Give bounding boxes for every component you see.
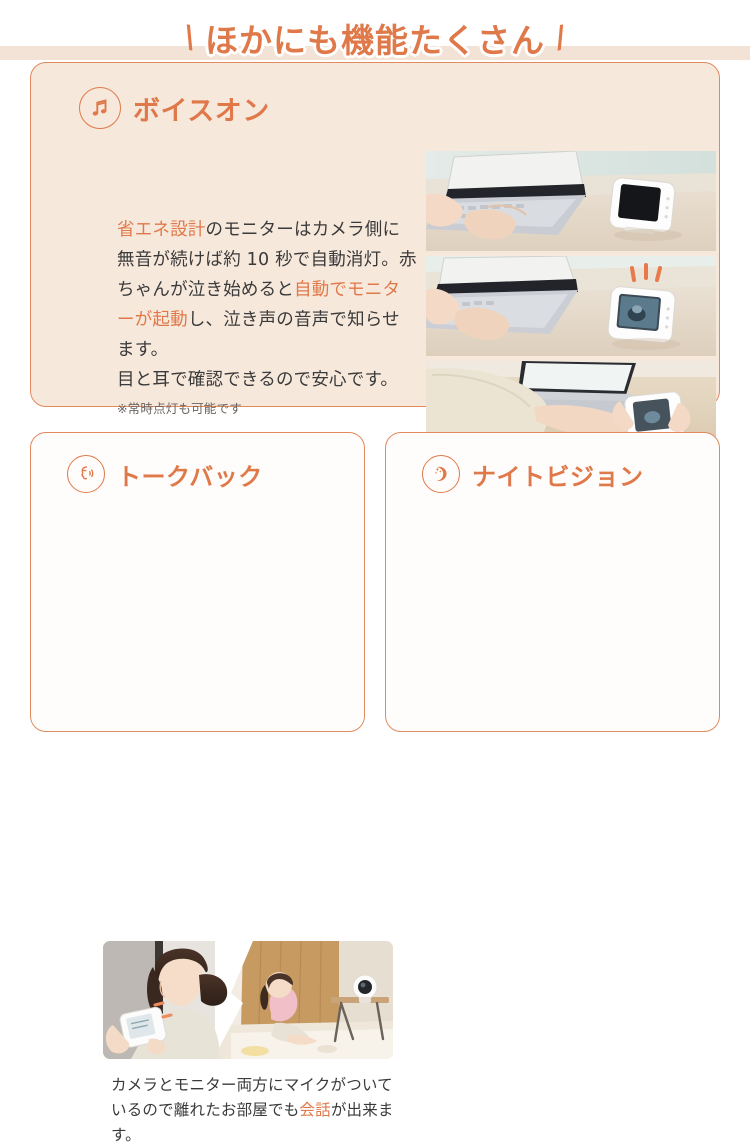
laptop-monitor-on-photo: [426, 256, 716, 356]
card-title-night-vision: ナイトビジョン: [472, 457, 644, 492]
talking-face-icon: [67, 455, 105, 493]
music-note-icon: [79, 87, 121, 129]
highlight-energy-saving: 省エネ設計: [117, 220, 206, 240]
slash-right-decoration: /: [552, 22, 569, 54]
card-note-voice-on: ※常時点灯も可能です: [117, 398, 242, 417]
title-row: \ ほかにも機能たくさん /: [0, 8, 750, 68]
card-header-night-vision: ナイトビジョン: [422, 455, 644, 493]
card-header-talk-back: トークバック: [67, 455, 263, 493]
highlight-conversation: 会話: [299, 1101, 330, 1119]
card-header-voice-on: ボイスオン: [79, 87, 270, 129]
mother-and-child-talkback-photo: [103, 941, 393, 1059]
page-title-banner: \ ほかにも機能たくさん /: [0, 8, 750, 68]
feature-card-voice-on: ボイスオン 省エネ設計のモニターはカメラ側に無音が続けば約 10 秒で自動消灯。…: [30, 62, 720, 407]
card-body-voice-on: 省エネ設計のモニターはカメラ側に無音が続けば約 10 秒で自動消灯。赤ちゃんが泣…: [117, 215, 417, 396]
body-segment-3: 目と耳で確認できるので安心です。: [117, 370, 398, 390]
page-title: ほかにも機能たくさん: [205, 14, 545, 62]
slash-left-decoration: \: [181, 22, 198, 54]
card-title-voice-on: ボイスオン: [133, 89, 270, 128]
feature-card-talk-back: トークバック: [30, 432, 365, 732]
card-body-talk-back: カメラとモニター両方にマイクがついているので離れたお部屋でも会話が出来ます。: [111, 1073, 401, 1148]
crescent-moon-icon: [422, 455, 460, 493]
feature-card-night-vision: ナイトビジョン: [385, 432, 720, 732]
feature-page: \ ほかにも機能たくさん / ボイスオン 省エネ設計のモニターはカメラ側に無音が…: [0, 0, 750, 749]
laptop-monitor-off-photo: [426, 151, 716, 251]
card-title-talk-back: トークバック: [117, 457, 263, 492]
